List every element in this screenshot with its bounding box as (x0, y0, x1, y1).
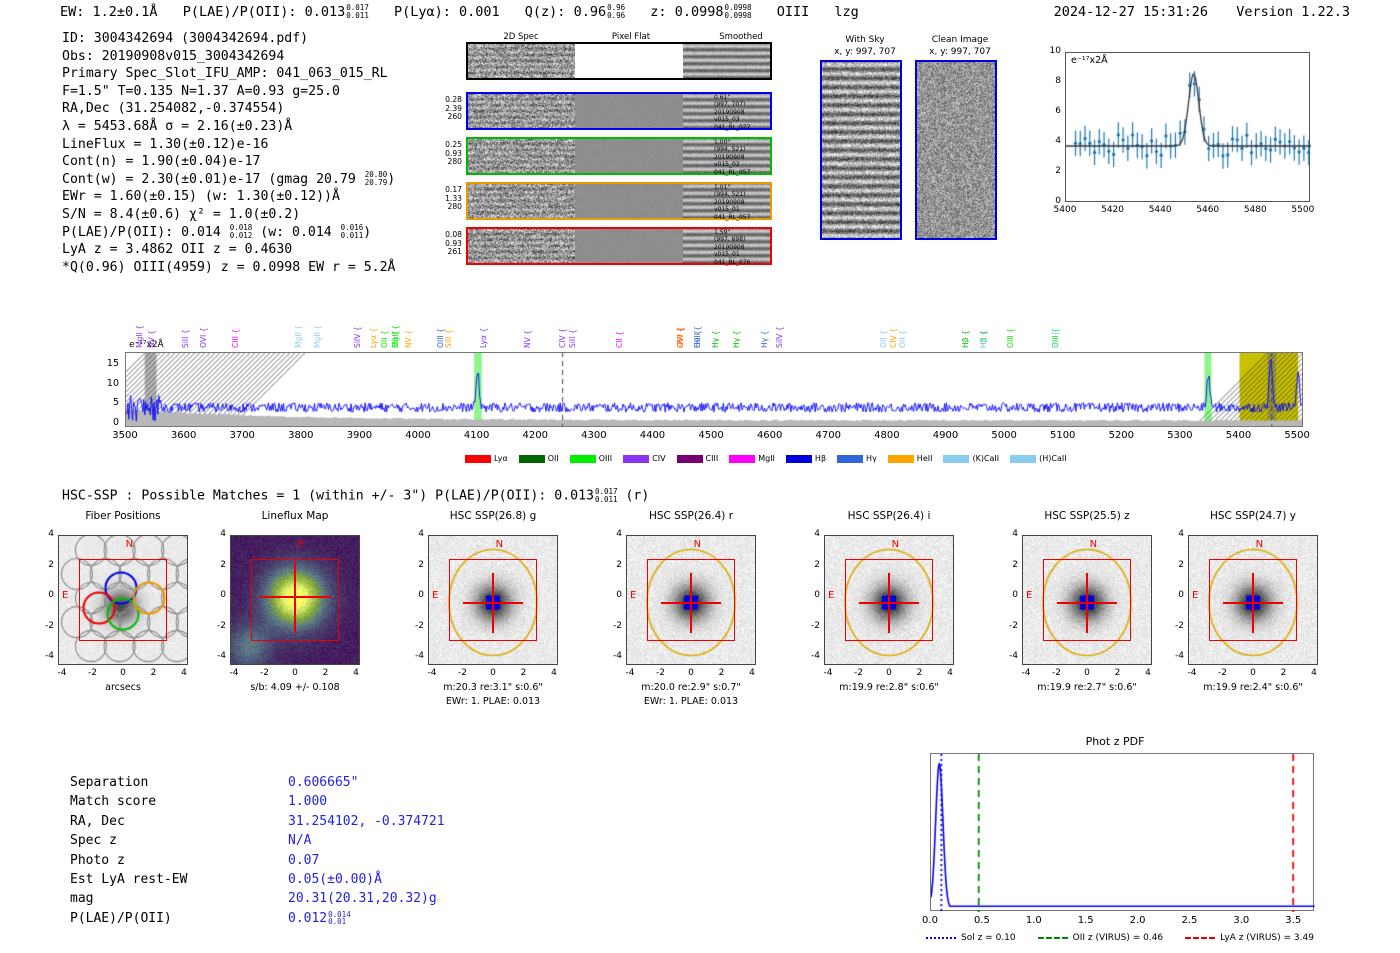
spectrum-xtick: 4800 (867, 430, 907, 441)
legend-label: Lyα (494, 454, 508, 463)
emission-line-label: OII { (693, 264, 702, 348)
photz-legend-label: OII z (VIRUS) = 0.46 (1073, 933, 1164, 943)
panel-ytick: -2 (1000, 621, 1018, 631)
spectrum-xtick: 4300 (574, 430, 614, 441)
linefit-xtick: 5480 (1235, 205, 1275, 215)
legend-item: OII (519, 454, 559, 463)
panel-ytick: -4 (406, 651, 424, 661)
cutout-panel (824, 535, 954, 665)
header-z: z: 0.09980.09980.0998 (650, 4, 759, 20)
match-table-value: 0.606665" (288, 773, 358, 792)
legend-label: HeII (917, 454, 933, 463)
info-id: ID: 3004342694 (3004342694.pdf) (62, 30, 462, 48)
linefit-ytick: 8 (1035, 76, 1061, 86)
panel-ytick: 4 (604, 529, 622, 539)
photz-xtick: 1.0 (1016, 915, 1052, 926)
spec2d-montage: 2D Spec Pixel Flat Smoothed Weighted Sum… (420, 32, 810, 254)
spectrum-ytick: 15 (97, 358, 119, 369)
legend-item: (H)CaII (1010, 454, 1066, 463)
panel-caption-secondary: EWr: 1. PLAE: 0.013 (396, 696, 590, 707)
spectrum-xtick: 3500 (105, 430, 145, 441)
cell-pixelflat (575, 44, 683, 78)
match-table-value-bounds: 0.0140.01 (328, 911, 351, 926)
panel-xtick: -2 (451, 668, 475, 678)
emission-line-label: Hζ { (979, 264, 988, 348)
spectrum-legend: LyαOIIOIIICIVCIIIMgIIHβHγHeII(K)CaII(H)C… (465, 454, 1067, 463)
cell-pixelflat (575, 229, 683, 263)
panel-title: HSC SSP(26.8) g (410, 510, 576, 522)
legend-item: Lyα (465, 454, 508, 463)
panel-ytick: 0 (406, 590, 424, 600)
linefit-ytick: 4 (1035, 136, 1061, 146)
panel-ytick: -4 (802, 651, 820, 661)
spectrum-xtick: 5100 (1043, 430, 1083, 441)
cell-2dspec (468, 229, 575, 263)
panel-caption-primary: m:20.3 re:3.1" s:0.6" (396, 682, 590, 693)
spec2d-row-stats: 0.080.93261 (420, 231, 462, 257)
source-info-block: ID: 3004342694 (3004342694.pdf) Obs: 201… (62, 30, 462, 276)
panel-xtick: -2 (81, 668, 105, 678)
legend-swatch (1010, 455, 1036, 463)
emission-line-label: MgII { (135, 298, 144, 348)
panel-xtick: 2 (908, 668, 932, 678)
panel-ytick: 0 (1000, 590, 1018, 600)
panel-caption-secondary: EWr: 1. PLAE: 0.013 (594, 696, 788, 707)
legend-label: OII (548, 454, 559, 463)
panel-title: Fiber Positions (40, 510, 206, 522)
spectrum-xtick: 5200 (1101, 430, 1141, 441)
header-summary: EW: 1.2±0.1Å P(LAE)/P(OII): 0.0130.0170.… (60, 4, 1350, 24)
cell-smoothed (683, 44, 770, 78)
panel-xtick: -2 (1211, 668, 1235, 678)
linefit-ytick: 2 (1035, 166, 1061, 176)
info-cont-w: Cont(w) = 2.30(±0.01)e-17 (gmag 20.79 20… (62, 171, 462, 189)
emission-line-label: SiIV { (353, 302, 362, 348)
emission-line-label: MgII { (313, 304, 322, 348)
legend-item: (K)CaII (943, 454, 999, 463)
legend-item: CIII (677, 454, 719, 463)
info-obs: Obs: 20190908v015_3004342694 (62, 48, 462, 66)
panel-xtick: -4 (618, 668, 642, 678)
panel-ytick: 0 (802, 590, 820, 600)
info-lambda-sigma: λ = 5453.68Å σ = 2.16(±0.23)Å (62, 118, 462, 136)
panel-ytick: 2 (406, 560, 424, 570)
cutout-panel (626, 535, 756, 665)
emission-line-label: Hβ { (961, 302, 970, 348)
panel-xtick: -4 (1014, 668, 1038, 678)
spectrum-xtick: 5000 (984, 430, 1024, 441)
linefit-xtick: 5440 (1140, 205, 1180, 215)
cell-pixelflat (575, 184, 683, 218)
spectrum-xtick: 4100 (457, 430, 497, 441)
legend-swatch (888, 455, 914, 463)
emission-line-label: SiIV { (775, 302, 784, 348)
emission-line-label: Hγ { (711, 302, 720, 348)
full-spectrum-chart: e⁻¹⁷x2Å LyαOIIOIIICIVCIIIMgIIHβHγHeII(K)… (95, 272, 1305, 472)
emission-line-label: Lyα { (369, 304, 378, 348)
legend-item: CIV (623, 454, 665, 463)
cutout-panel (58, 535, 188, 665)
panel-title: HSC SSP(26.4) i (806, 510, 972, 522)
photz-xtick: 3.0 (1223, 915, 1259, 926)
legend-item: MgII (729, 454, 775, 463)
spec2d-row-meta: 0.61"(997, 707)20190908v015_03041_RL_077 (714, 94, 750, 131)
emission-line-label: OII { (380, 302, 389, 348)
emission-line-label: SiII { (444, 302, 453, 348)
emission-line-label: CII { (615, 302, 624, 348)
info-sn-chi2: S/N = 8.4(±0.6) χ² = 1.0(±0.2) (62, 206, 462, 224)
spectrum-xtick: 4700 (808, 430, 848, 441)
emission-line-label: Hγ { (760, 302, 769, 348)
spectrum-ytick: 10 (97, 378, 119, 389)
compass-east-label: E (630, 590, 636, 601)
info-plae: P(LAE)/P(OII): 0.014 0.0180.012 (w: 0.01… (62, 224, 462, 242)
panel-xtick: 2 (142, 668, 166, 678)
panel-ytick: -4 (1166, 651, 1184, 661)
info-radec: RA,Dec (31.254082,-0.374554) (62, 100, 462, 118)
panel-xtick: -4 (222, 668, 246, 678)
spectrum-xtick: 3900 (339, 430, 379, 441)
compass-north-label: N (1090, 539, 1097, 550)
panel-xtick: 0 (111, 668, 135, 678)
panel-ytick: -2 (604, 621, 622, 631)
spec2d-row-stats: 0.250.93280 (420, 141, 462, 167)
info-cont-n: Cont(n) = 1.90(±0.04)e-17 (62, 153, 462, 171)
header-plae: P(LAE)/P(OII): 0.0130.0170.011 (183, 4, 377, 20)
legend-swatch (837, 455, 863, 463)
legend-label: OIII (599, 454, 612, 463)
photz-legend-line (1185, 937, 1215, 939)
photz-legend-item: OII z (VIRUS) = 0.46 (1038, 933, 1164, 943)
spectrum-xtick: 4200 (515, 430, 555, 441)
cell-pixelflat (575, 94, 683, 128)
panel-ytick: 4 (1000, 529, 1018, 539)
match-table-value: 20.31(20.31,20.32)g (288, 889, 437, 908)
match-table-key: Photo z (70, 851, 125, 870)
spectrum-xtick: 4900 (925, 430, 965, 441)
emission-line-label: MgII { (294, 304, 303, 348)
cell-2dspec (468, 94, 575, 128)
panel-xtick: 4 (172, 668, 196, 678)
compass-east-label: E (432, 590, 438, 601)
compass-east-label: E (1026, 590, 1032, 601)
panel-xtick: 0 (283, 668, 307, 678)
line-fit-chart: e⁻¹⁷x2Å 0246810540054205440546054805500 (1035, 52, 1315, 232)
panel-xtick: 4 (1302, 668, 1326, 678)
panel-ytick: 4 (1166, 529, 1184, 539)
legend-label: Hβ (815, 454, 826, 463)
panel-ytick: 0 (604, 590, 622, 600)
info-params: F=1.5" T=0.135 N=1.37 A=0.93 g=25.0 (62, 83, 462, 101)
header-plya: P(Lyα): 0.001 (394, 4, 500, 20)
emission-line-label: OII { (879, 302, 888, 348)
panel-xlabel: arcsecs (38, 682, 208, 693)
compass-east-label: E (828, 590, 834, 601)
spectrum-plot-area (125, 352, 1303, 427)
panel-xtick: 0 (679, 668, 703, 678)
cutout-panel (230, 535, 360, 665)
emission-line-label: NV { (404, 302, 413, 348)
emission-line-label: SiII { (568, 302, 577, 348)
cutout-withsky (820, 60, 902, 240)
panel-xtick: 2 (1272, 668, 1296, 678)
match-table-key: P(LAE)/P(OII) (70, 909, 172, 928)
spectrum-xtick: 4400 (632, 430, 672, 441)
photz-legend-line (1038, 937, 1068, 939)
panel-ytick: -4 (604, 651, 622, 661)
panel-xtick: -2 (649, 668, 673, 678)
panel-ytick: 2 (1000, 560, 1018, 570)
legend-label: (K)CaII (972, 454, 999, 463)
photz-xtick: 2.0 (1120, 915, 1156, 926)
spectrum-xtick: 5400 (1219, 430, 1259, 441)
match-table-key: RA, Dec (70, 812, 125, 831)
photz-legend-line (926, 937, 956, 939)
phot-z-title: Phot z PDF (900, 735, 1330, 748)
panel-ytick: -2 (208, 621, 226, 631)
legend-label: MgII (758, 454, 775, 463)
emission-line-label: Lyα { (479, 302, 488, 348)
emission-line-label: SiIV { (676, 264, 685, 348)
cell-pixelflat (575, 139, 683, 173)
panel-xtick: 4 (542, 668, 566, 678)
panel-xtick: -4 (50, 668, 74, 678)
hsc-heading: HSC-SSP : Possible Matches = 1 (within +… (62, 488, 649, 504)
panel-ytick: 0 (36, 590, 54, 600)
header-ew: EW: 1.2±0.1Å (60, 4, 158, 20)
panel-xtick: 2 (512, 668, 536, 678)
cutout-panel (428, 535, 558, 665)
legend-label: (H)CaII (1039, 454, 1066, 463)
emission-line-label: CIV { (889, 302, 898, 348)
spec2d-row-stats: 0.282.39260 (420, 96, 462, 122)
photz-xtick: 2.5 (1171, 915, 1207, 926)
compass-north-label: N (694, 539, 701, 550)
emission-line-label: OII { (898, 302, 907, 348)
panel-title: Lineflux Map (212, 510, 378, 522)
legend-item: OIII (570, 454, 612, 463)
photz-legend-label: LyA z (VIRUS) = 3.49 (1220, 933, 1314, 943)
panel-xtick: -2 (847, 668, 871, 678)
col-title-smoothed: Smoothed (686, 32, 796, 42)
spectrum-xtick: 3800 (281, 430, 321, 441)
legend-swatch (519, 455, 545, 463)
legend-swatch (623, 455, 649, 463)
match-table-key: mag (70, 889, 93, 908)
spec2d-row-meta: 1.59"(997, 698)20190908v015_01041_RL_076 (714, 229, 750, 266)
photz-legend-item: Sol z = 0.10 (926, 933, 1016, 943)
col-title-pixelflat: Pixel Flat (576, 32, 686, 42)
legend-swatch (943, 455, 969, 463)
legend-swatch (677, 455, 703, 463)
linefit-xtick: 5420 (1093, 205, 1133, 215)
panel-xtick: 4 (344, 668, 368, 678)
panel-xtick: 0 (1241, 668, 1265, 678)
photz-xtick: 3.5 (1275, 915, 1311, 926)
cell-2dspec (468, 184, 575, 218)
legend-item: Hβ (786, 454, 826, 463)
cutout-panel (1022, 535, 1152, 665)
panel-ytick: 4 (406, 529, 424, 539)
panel-xtick: -4 (420, 668, 444, 678)
legend-item: Hγ (837, 454, 877, 463)
compass-north-label: N (496, 539, 503, 550)
panel-ytick: 2 (802, 560, 820, 570)
emission-line-label: CIII { (231, 300, 240, 348)
panel-caption-primary: s/b: 4.09 +/- 0.108 (198, 682, 392, 693)
spectrum-xtick: 3700 (222, 430, 262, 441)
spectrum-xtick: 3600 (164, 430, 204, 441)
panel-xtick: 2 (710, 668, 734, 678)
compass-east-label: E (62, 590, 68, 601)
info-lineflux: LineFlux = 1.30(±0.12)e-16 (62, 136, 462, 154)
panel-ytick: 0 (1166, 590, 1184, 600)
panel-ytick: 0 (208, 590, 226, 600)
panel-ytick: -4 (208, 651, 226, 661)
panel-ytick: 2 (208, 560, 226, 570)
emission-line-label: NV { (523, 302, 532, 348)
match-table-key: Est LyA rest-EW (70, 870, 187, 889)
legend-label: CIII (706, 454, 719, 463)
compass-north-label: N (126, 539, 133, 550)
panel-xtick: -2 (253, 668, 277, 678)
phot-z-legend: Sol z = 0.10OII z (VIRUS) = 0.46LyA z (V… (910, 933, 1330, 943)
cutout-cleanimage (915, 60, 997, 240)
emission-line-label: NV { (147, 292, 156, 348)
panel-ytick: -4 (36, 651, 54, 661)
line-fit-annotation: e⁻¹⁷x2Å (1071, 55, 1108, 66)
linefit-ytick: 6 (1035, 106, 1061, 116)
panel-ytick: -2 (802, 621, 820, 631)
panel-xtick: -4 (816, 668, 840, 678)
panel-xtick: 0 (481, 668, 505, 678)
emission-line-label: CIV { (558, 302, 567, 348)
phot-z-pdf-chart: Phot z PDF Sol z = 0.10OII z (VIRUS) = 0… (900, 735, 1330, 950)
legend-item: HeII (888, 454, 933, 463)
weighted-sum-row (466, 42, 772, 80)
panel-ytick: -2 (36, 621, 54, 631)
linefit-xtick: 5500 (1283, 205, 1323, 215)
emission-line-label: OIII { (1006, 302, 1015, 348)
spectrum-ytick: 0 (97, 417, 119, 428)
panel-xtick: 2 (1106, 668, 1130, 678)
match-table-value: 1.000 (288, 792, 327, 811)
photz-xtick: 0.0 (912, 915, 948, 926)
match-table-value: N/A (288, 831, 311, 850)
panel-ytick: 2 (1166, 560, 1184, 570)
panel-caption-primary: m:19.9 re:2.4" s:0.6" (1156, 682, 1350, 693)
compass-north-label: N (892, 539, 899, 550)
emission-line-label: SiII { (181, 302, 190, 348)
compass-east-label: E (1192, 590, 1198, 601)
cutout-panel (1188, 535, 1318, 665)
panel-xtick: 2 (314, 668, 338, 678)
panel-title: HSC SSP(24.7) y (1170, 510, 1336, 522)
panel-xtick: 0 (1075, 668, 1099, 678)
emission-line-label: Hγ { (732, 302, 741, 348)
panel-ytick: 2 (604, 560, 622, 570)
panel-ytick: -4 (1000, 651, 1018, 661)
panel-ytick: 4 (208, 529, 226, 539)
legend-swatch (465, 455, 491, 463)
match-table-value: 0.05(±0.00)Å (288, 870, 382, 889)
compass-north-label: E (298, 539, 304, 550)
header-flag: lzg (834, 4, 858, 20)
legend-label: CIV (652, 454, 665, 463)
col-title-2dspec: 2D Spec (466, 32, 576, 42)
info-redshifts: LyA z = 3.4862 OII z = 0.4630 (62, 241, 462, 259)
match-table-value: 0.0120.0140.01 (288, 909, 351, 928)
match-table-key: Match score (70, 792, 156, 811)
compass-north-label: N (1256, 539, 1263, 550)
panel-xtick: 4 (938, 668, 962, 678)
linefit-ytick: 10 (1035, 46, 1061, 56)
spectrum-xtick: 4500 (691, 430, 731, 441)
spectrum-xtick: 4600 (750, 430, 790, 441)
photz-legend-label: Sol z = 0.10 (961, 933, 1016, 943)
hsc-panel-row: Fiber PositionsNE-4-4-2-2002244arcsecsLi… (0, 510, 1400, 725)
spectrum-xtick: 5500 (1277, 430, 1317, 441)
linefit-xtick: 5460 (1188, 205, 1228, 215)
phot-z-plot-area (930, 753, 1314, 911)
cell-2dspec (468, 139, 575, 173)
panel-caption-primary: m:19.9 re:2.8" s:0.6" (792, 682, 986, 693)
match-table-key: Spec z (70, 831, 117, 850)
spec2d-row-meta: 1.01"(994, 521)20190908v015_01041_RL_057 (714, 184, 750, 221)
photz-legend-item: LyA z (VIRUS) = 3.49 (1185, 933, 1314, 943)
match-table-key: Separation (70, 773, 148, 792)
header-line-id: OIII (777, 4, 810, 20)
panel-caption-primary: m:20.0 re:2.9" s:0.7" (594, 682, 788, 693)
match-table-value: 0.07 (288, 851, 319, 870)
panel-xtick: 4 (740, 668, 764, 678)
panel-title: HSC SSP(26.4) r (608, 510, 774, 522)
panel-title: HSC SSP(25.5) z (1004, 510, 1170, 522)
legend-swatch (786, 455, 812, 463)
info-primary-spec: Primary Spec_Slot_IFU_AMP: 041_063_015_R… (62, 65, 462, 83)
legend-swatch (570, 455, 596, 463)
cell-2dspec (468, 44, 575, 78)
legend-label: Hγ (866, 454, 877, 463)
photz-xtick: 0.5 (964, 915, 1000, 926)
panel-ytick: -2 (406, 621, 424, 631)
emission-line-label: Hε { (1051, 264, 1060, 348)
legend-swatch (729, 455, 755, 463)
emission-line-label: OII { (391, 264, 400, 348)
info-ewr: EWr = 1.60(±0.15) (w: 1.30(±0.12))Å (62, 188, 462, 206)
panel-ytick: -2 (1166, 621, 1184, 631)
panel-xtick: -4 (1180, 668, 1204, 678)
panel-ytick: 4 (802, 529, 820, 539)
spec2d-row-meta: 1.00"(994, 521)20190908v015_02041_RL_057 (714, 139, 750, 176)
spectrum-xtick: 4000 (398, 430, 438, 441)
emission-line-label: OVI { (199, 302, 208, 348)
panel-xtick: 0 (877, 668, 901, 678)
panel-xtick: -2 (1045, 668, 1069, 678)
header-qz: Q(z): 0.960.960.96 (525, 4, 634, 20)
spec2d-row-stats: 0.171.33280 (420, 186, 462, 212)
panel-ytick: 4 (36, 529, 54, 539)
panel-ytick: 2 (36, 560, 54, 570)
linefit-xtick: 5400 (1045, 205, 1085, 215)
spectrum-ytick: 5 (97, 397, 119, 408)
panel-xtick: 4 (1136, 668, 1160, 678)
photz-xtick: 1.5 (1068, 915, 1104, 926)
spectrum-xtick: 5300 (1160, 430, 1200, 441)
header-timestamp-version: 2024-12-27 15:31:26 Version 1.22.3 (1054, 4, 1350, 20)
match-table-value: 31.254102, -0.374721 (288, 812, 445, 831)
panel-caption-primary: m:19.9 re:2.7" s:0.6" (990, 682, 1184, 693)
